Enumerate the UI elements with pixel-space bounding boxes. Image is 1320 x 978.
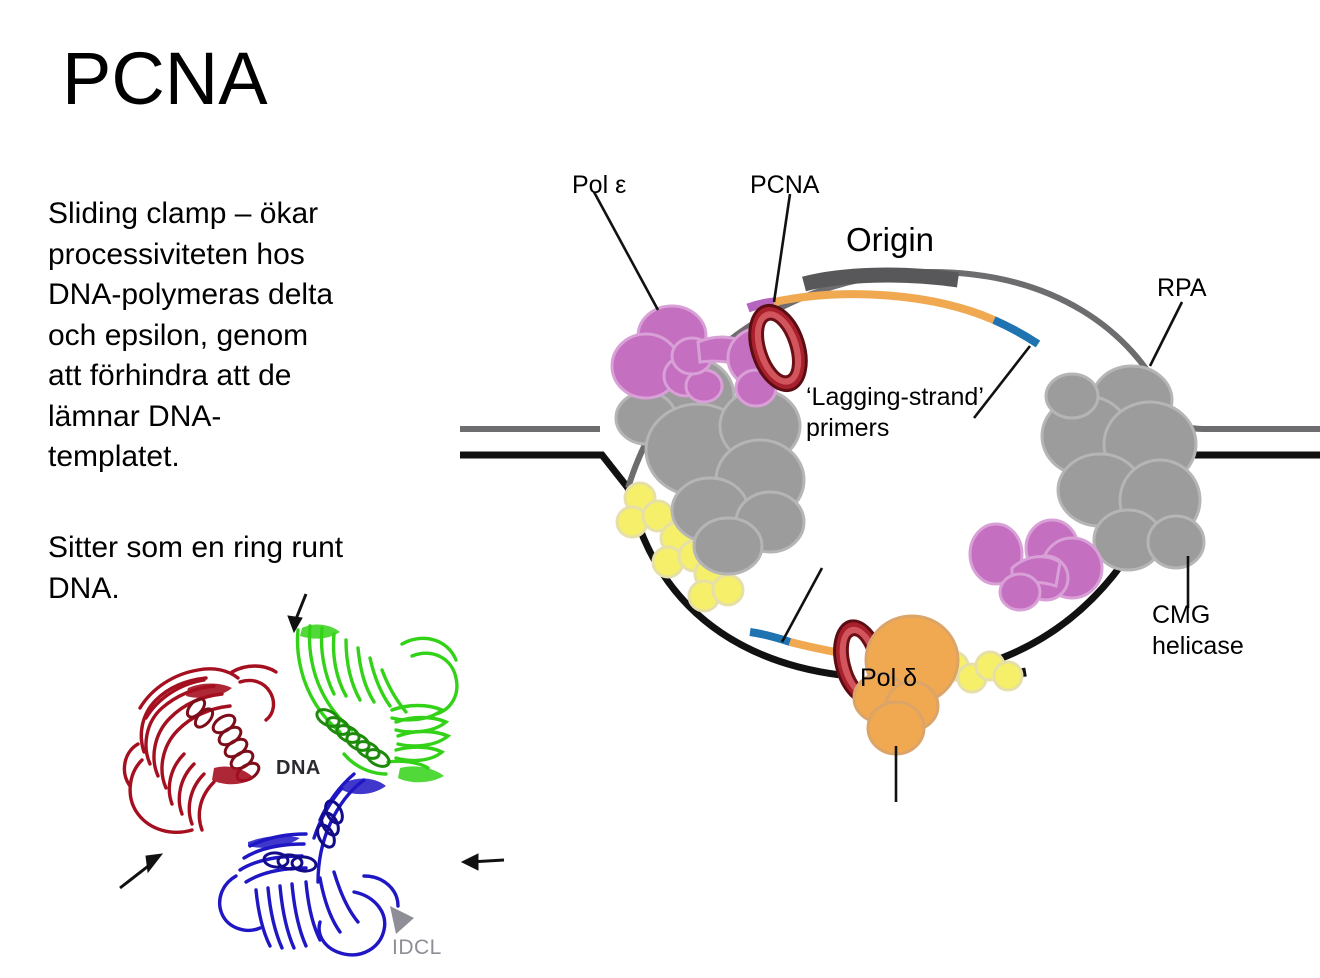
idcl-arrow-icon [390,906,414,934]
pcna-ribbon-structure-figure [118,588,510,978]
top-leading-strand [774,294,994,320]
leader-pcna [774,194,790,302]
pcna-subunit-blue [220,774,398,955]
label-lagging-strand-primers: ‘Lagging-strand’ primers [806,382,984,443]
structure-arrow-top [288,594,306,632]
label-pol-delta: Pol δ [860,663,917,694]
label-pol-epsilon: Pol ε [572,170,626,201]
leader-lagging-bottom [782,568,822,642]
page-title: PCNA [62,42,268,116]
structure-arrow-left [120,854,162,888]
leader-pol-epsilon [594,192,658,310]
label-origin: Origin [846,220,934,260]
top-primer-segment [994,320,1038,344]
pcna-subunit-green [298,625,457,783]
label-cmg-helicase: CMG helicase [1152,600,1244,661]
pcna-subunit-red [124,666,276,832]
body-paragraph-1: Sliding clamp – ökar processiviteten hos… [48,194,348,478]
structure-arrow-right [462,854,504,870]
dna-center-label: DNA [276,757,321,780]
idcl-label: IDCL [392,936,442,960]
origin-segment [804,275,958,284]
label-pcna: PCNA [750,170,819,201]
leader-rpa [1150,302,1182,366]
label-rpa: RPA [1157,273,1207,304]
pol-epsilon-right [970,520,1102,610]
slide-canvas: PCNA Sliding clamp – ökar processivitete… [0,0,1320,978]
